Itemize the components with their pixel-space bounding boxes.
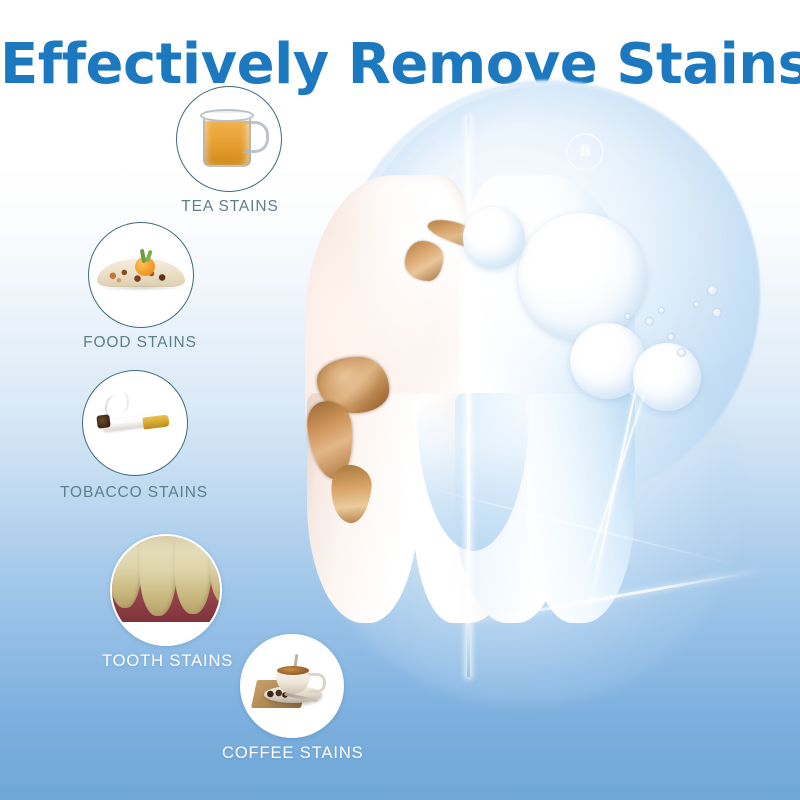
- micro-bubble: [645, 317, 654, 326]
- coffee-cup-icon: [254, 656, 330, 712]
- tobacco-stains-circle[interactable]: [82, 370, 188, 476]
- feature-label-food: FOOD STAINS: [78, 334, 202, 352]
- feature-coffee-stains[interactable]: COFFEE STAINS: [240, 634, 344, 738]
- feature-label-coffee: COFFEE STAINS: [222, 744, 358, 763]
- feature-tooth-stains[interactable]: TOOTH STAINS: [110, 534, 222, 646]
- tooth-root-right-outer: [527, 393, 635, 623]
- tea-cup-icon: [199, 109, 261, 165]
- feature-label-tooth: TOOTH STAINS: [102, 652, 230, 671]
- coffee-stains-circle[interactable]: [240, 634, 344, 738]
- food-pile-icon: [97, 249, 185, 291]
- feature-tea-stains[interactable]: TEA STAINS: [176, 86, 282, 192]
- tooth-stains-circle[interactable]: [110, 534, 222, 646]
- cleansing-bubble: [633, 343, 701, 411]
- cigarette-icon: [91, 399, 179, 435]
- brand-watermark-icon: B: [566, 133, 604, 171]
- tooth-artwork: B: [250, 55, 770, 705]
- micro-bubble: [667, 333, 675, 341]
- feature-label-tobacco: TOBACCO STAINS: [58, 484, 210, 502]
- feature-tobacco-stains[interactable]: TOBACCO STAINS: [82, 370, 188, 476]
- micro-bubble: [693, 301, 700, 308]
- feature-food-stains[interactable]: FOOD STAINS: [88, 222, 194, 328]
- tooth-root-left-outer: [307, 393, 419, 623]
- micro-bubble: [712, 308, 722, 318]
- micro-bubble: [658, 307, 665, 314]
- feature-label-tea: TEA STAINS: [176, 198, 284, 216]
- stained-teeth-icon: [112, 536, 220, 644]
- micro-bubble: [677, 348, 686, 357]
- poster-canvas: Effectively Remove Stains B: [0, 0, 800, 800]
- before-after-divider: [467, 117, 470, 677]
- tea-stains-circle[interactable]: [176, 86, 282, 192]
- micro-bubble: [707, 285, 718, 296]
- cleansing-bubble: [463, 207, 525, 269]
- micro-bubble: [624, 313, 631, 320]
- food-stains-circle[interactable]: [88, 222, 194, 328]
- cleansing-bubble: [518, 213, 646, 341]
